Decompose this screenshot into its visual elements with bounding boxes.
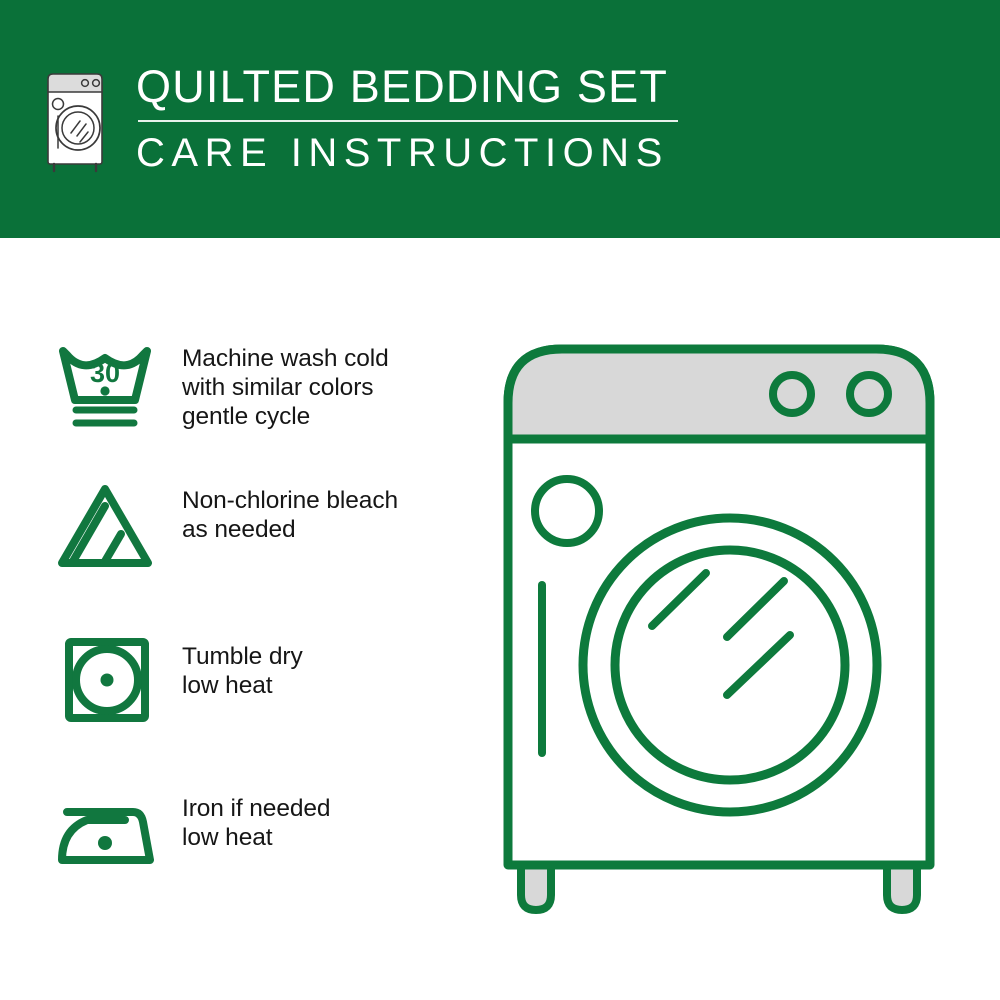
- washing-machine-icon: [44, 66, 106, 174]
- care-line: Non-chlorine bleach: [182, 486, 398, 515]
- care-row-tumble-dry: Tumble dry low heat: [46, 636, 476, 728]
- care-row-bleach: Non-chlorine bleach as needed: [46, 480, 476, 572]
- care-text-bleach: Non-chlorine bleach as needed: [182, 480, 398, 544]
- non-chlorine-bleach-triangle-icon: [46, 480, 164, 572]
- care-line: low heat: [182, 823, 330, 852]
- header-content: QUILTED BEDDING SET CARE INSTRUCTIONS: [44, 62, 678, 175]
- title-divider: [138, 120, 678, 122]
- knob-left[interactable]: [773, 375, 811, 413]
- care-line: with similar colors: [182, 373, 389, 402]
- care-text-iron: Iron if needed low heat: [182, 788, 330, 852]
- page-title: QUILTED BEDDING SET: [136, 62, 678, 112]
- header-title-group: QUILTED BEDDING SET CARE INSTRUCTIONS: [136, 62, 678, 175]
- care-row-iron: Iron if needed low heat: [46, 788, 476, 880]
- care-line: Tumble dry: [182, 642, 303, 671]
- wash-tub-30-gentle-icon: 30: [46, 338, 164, 430]
- knob-right[interactable]: [850, 375, 888, 413]
- dispenser-circle[interactable]: [535, 479, 599, 543]
- care-text-wash: Machine wash cold with similar colors ge…: [182, 338, 389, 431]
- tumble-dry-low-heat-icon: [46, 636, 164, 728]
- front-load-washing-machine-illustration: [495, 335, 965, 935]
- care-line: as needed: [182, 515, 398, 544]
- care-line: Iron if needed: [182, 794, 330, 823]
- care-line: low heat: [182, 671, 303, 700]
- care-text-tumble-dry: Tumble dry low heat: [182, 636, 303, 700]
- care-instruction-list: 30 Machine wash cold with similar colors…: [0, 238, 470, 1000]
- care-line: Machine wash cold: [182, 344, 389, 373]
- wash-temperature-value: 30: [90, 358, 120, 388]
- door-inner-circle[interactable]: [615, 550, 845, 780]
- care-line: gentle cycle: [182, 402, 389, 431]
- iron-low-heat-icon: [46, 788, 164, 880]
- care-row-wash: 30 Machine wash cold with similar colors…: [46, 338, 476, 431]
- header-banner: QUILTED BEDDING SET CARE INSTRUCTIONS: [0, 0, 1000, 238]
- page-subtitle: CARE INSTRUCTIONS: [136, 131, 678, 175]
- care-instructions-infographic: QUILTED BEDDING SET CARE INSTRUCTIONS 30: [0, 0, 1000, 1000]
